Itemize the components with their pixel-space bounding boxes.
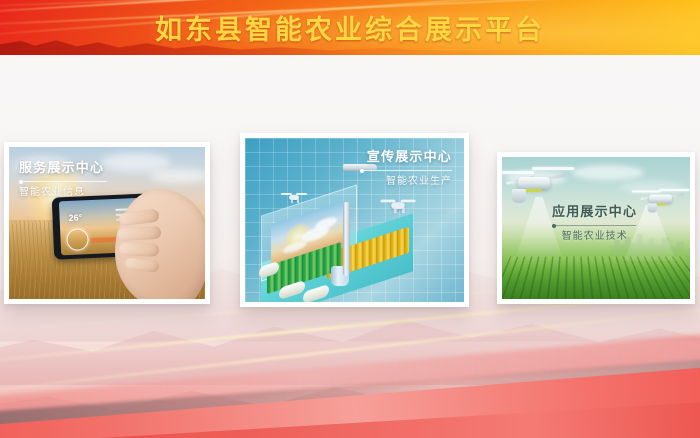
drone-spray-tank	[648, 203, 657, 212]
card-publicity-display-center[interactable]: 宣传展示中心 智能农业生产	[240, 133, 469, 307]
card-application-image: 应用展示中心 智能农业技术	[502, 157, 690, 299]
finger	[117, 226, 162, 241]
drone-rotor	[632, 190, 661, 192]
card-application-display-center[interactable]: 应用展示中心 智能农业技术	[497, 152, 695, 304]
card-application-title: 应用展示中心	[552, 205, 637, 218]
finger	[124, 257, 159, 272]
card-application-caption: 应用展示中心 智能农业技术	[552, 205, 637, 242]
caption-dot-icon	[360, 169, 364, 173]
card-publicity-image: 宣传展示中心 智能农业生产	[245, 138, 464, 302]
hand-illustration	[115, 189, 205, 299]
crop-field	[502, 256, 690, 299]
card-service-display-center[interactable]: 26°	[4, 142, 210, 304]
drone-body	[518, 177, 550, 189]
drone-icon	[281, 192, 307, 202]
drone-leg	[291, 199, 293, 203]
caption-divider	[19, 181, 107, 182]
card-publicity-caption: 宣传展示中心 智能农业生产	[360, 150, 452, 187]
card-service-title: 服务展示中心	[19, 161, 107, 174]
card-service-subtitle: 智能农业信息	[19, 188, 107, 198]
hud-gauge-ring-icon	[66, 228, 89, 251]
sensor-pole	[343, 202, 350, 276]
drone-body	[649, 195, 672, 204]
finger	[119, 242, 159, 256]
header-banner: 如东县智能农业综合展示平台	[0, 0, 700, 55]
card-publicity-subtitle: 智能农业生产	[360, 177, 452, 187]
drone-spray-tank	[512, 189, 526, 203]
page-title: 如东县智能农业综合展示平台	[0, 0, 700, 55]
drone-leg	[394, 208, 397, 213]
drone-accent	[524, 189, 542, 192]
drone-icon	[632, 185, 690, 214]
drone-rotor	[502, 171, 534, 174]
hud-temperature-readout: 26°	[68, 212, 82, 223]
hud-strip-icon	[91, 237, 119, 243]
cloud-icon	[572, 165, 644, 180]
caption-dot-icon	[552, 224, 556, 228]
caption-dot-icon	[19, 180, 23, 184]
drone-rotor	[659, 189, 689, 191]
drone-leg	[297, 199, 299, 203]
drone-leg	[402, 208, 405, 213]
presentation-canvas: 如东县智能农业综合展示平台 26°	[0, 0, 700, 438]
card-publicity-title: 宣传展示中心	[360, 150, 452, 163]
card-service-caption: 服务展示中心 智能农业信息	[19, 161, 107, 198]
cloud-icon	[149, 169, 205, 183]
caption-divider	[360, 170, 452, 171]
card-service-image: 26°	[9, 147, 205, 299]
caption-divider	[552, 225, 636, 226]
drone-rotor	[532, 167, 574, 170]
cloud-icon	[101, 153, 171, 171]
drone-icon	[380, 198, 415, 212]
card-application-subtitle: 智能农业技术	[552, 232, 637, 242]
finger	[118, 209, 159, 227]
drone-icon	[502, 163, 578, 203]
